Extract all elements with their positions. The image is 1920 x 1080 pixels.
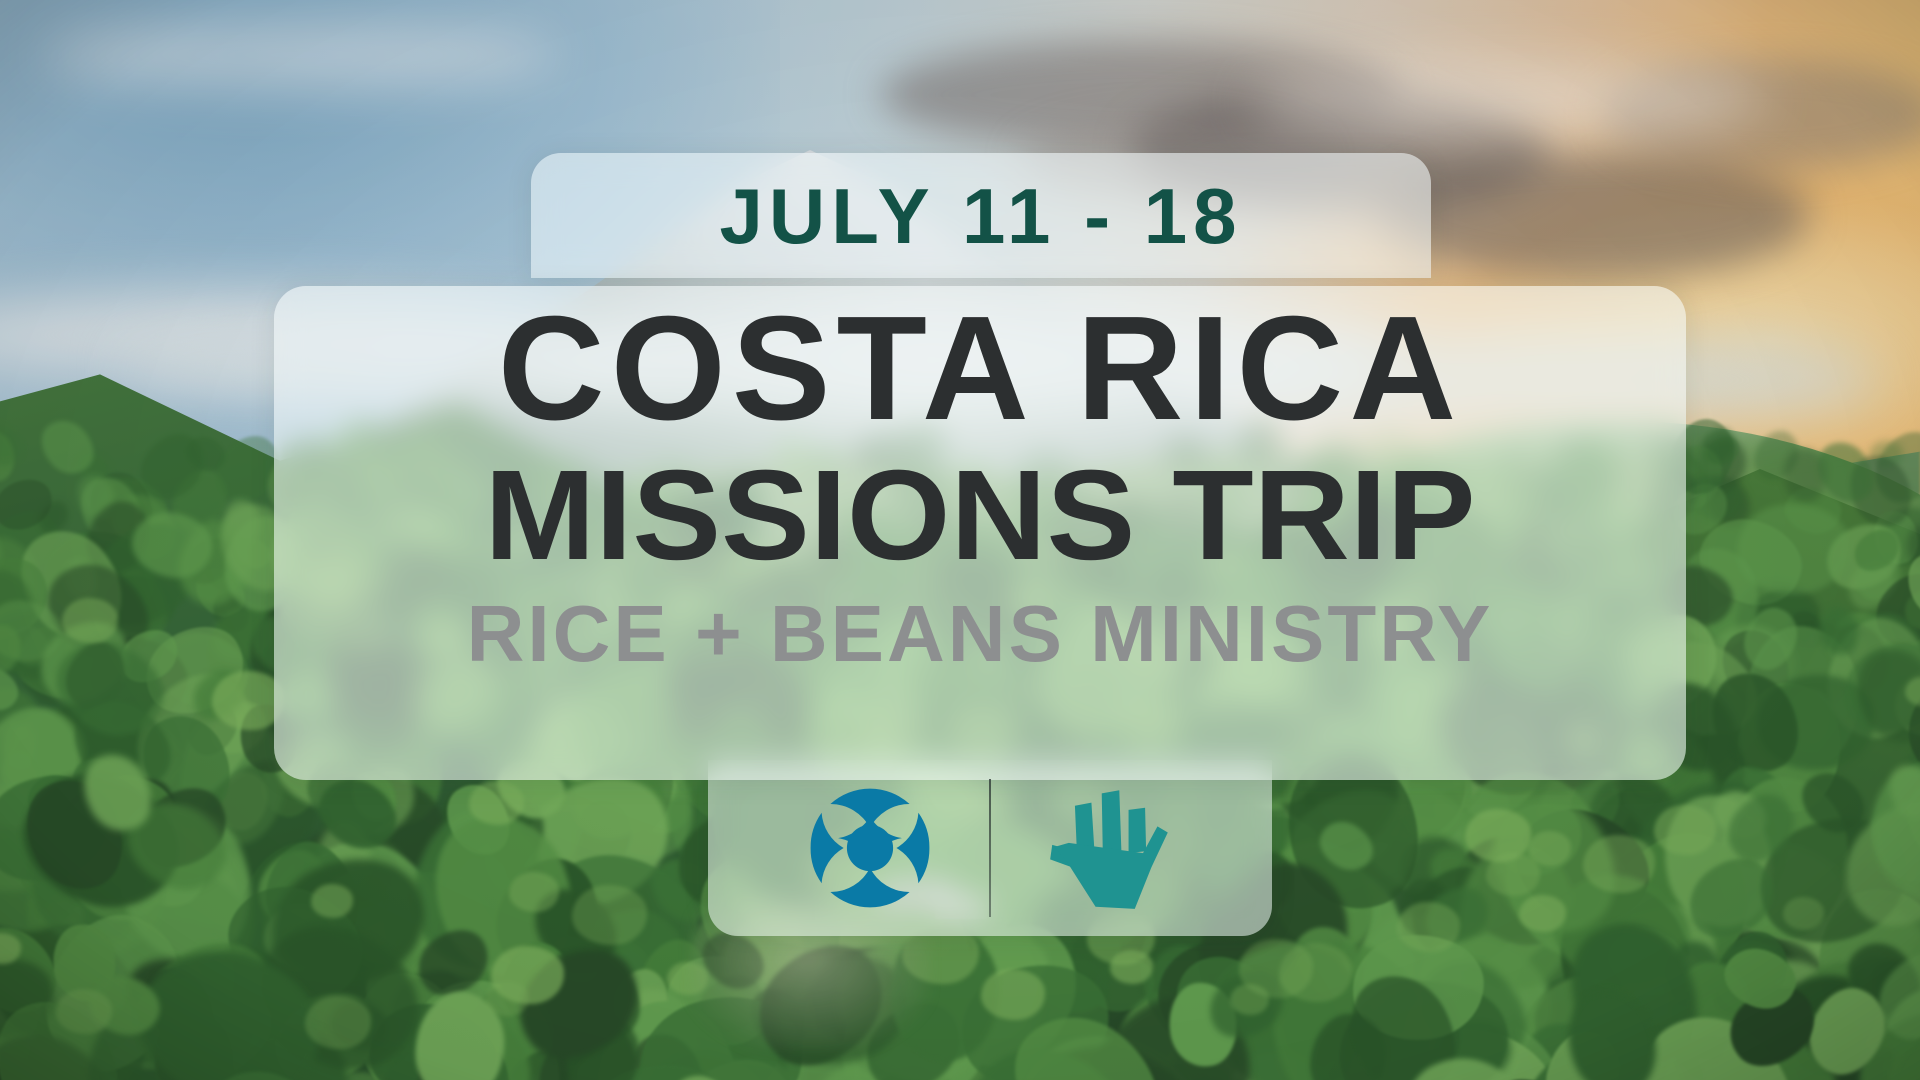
promo-graphic-canvas: JULY 11 - 18 COSTA RICA MISSIONS TRIP RI… — [0, 0, 1920, 1080]
logo-slot-left — [751, 768, 989, 928]
title-block: COSTA RICA MISSIONS TRIP RICE + BEANS MI… — [274, 290, 1686, 682]
church-circle-petal-logo — [804, 782, 936, 914]
ministry-subtitle: RICE + BEANS MINISTRY — [274, 586, 1686, 682]
destination-title: COSTA RICA — [274, 290, 1686, 448]
event-date: JULY 11 - 18 — [531, 170, 1431, 262]
open-hand-brushstroke-logo — [1047, 783, 1173, 913]
event-type-title: MISSIONS TRIP — [246, 448, 1714, 584]
logo-slot-right — [991, 768, 1229, 928]
logo-lockup — [708, 762, 1272, 934]
